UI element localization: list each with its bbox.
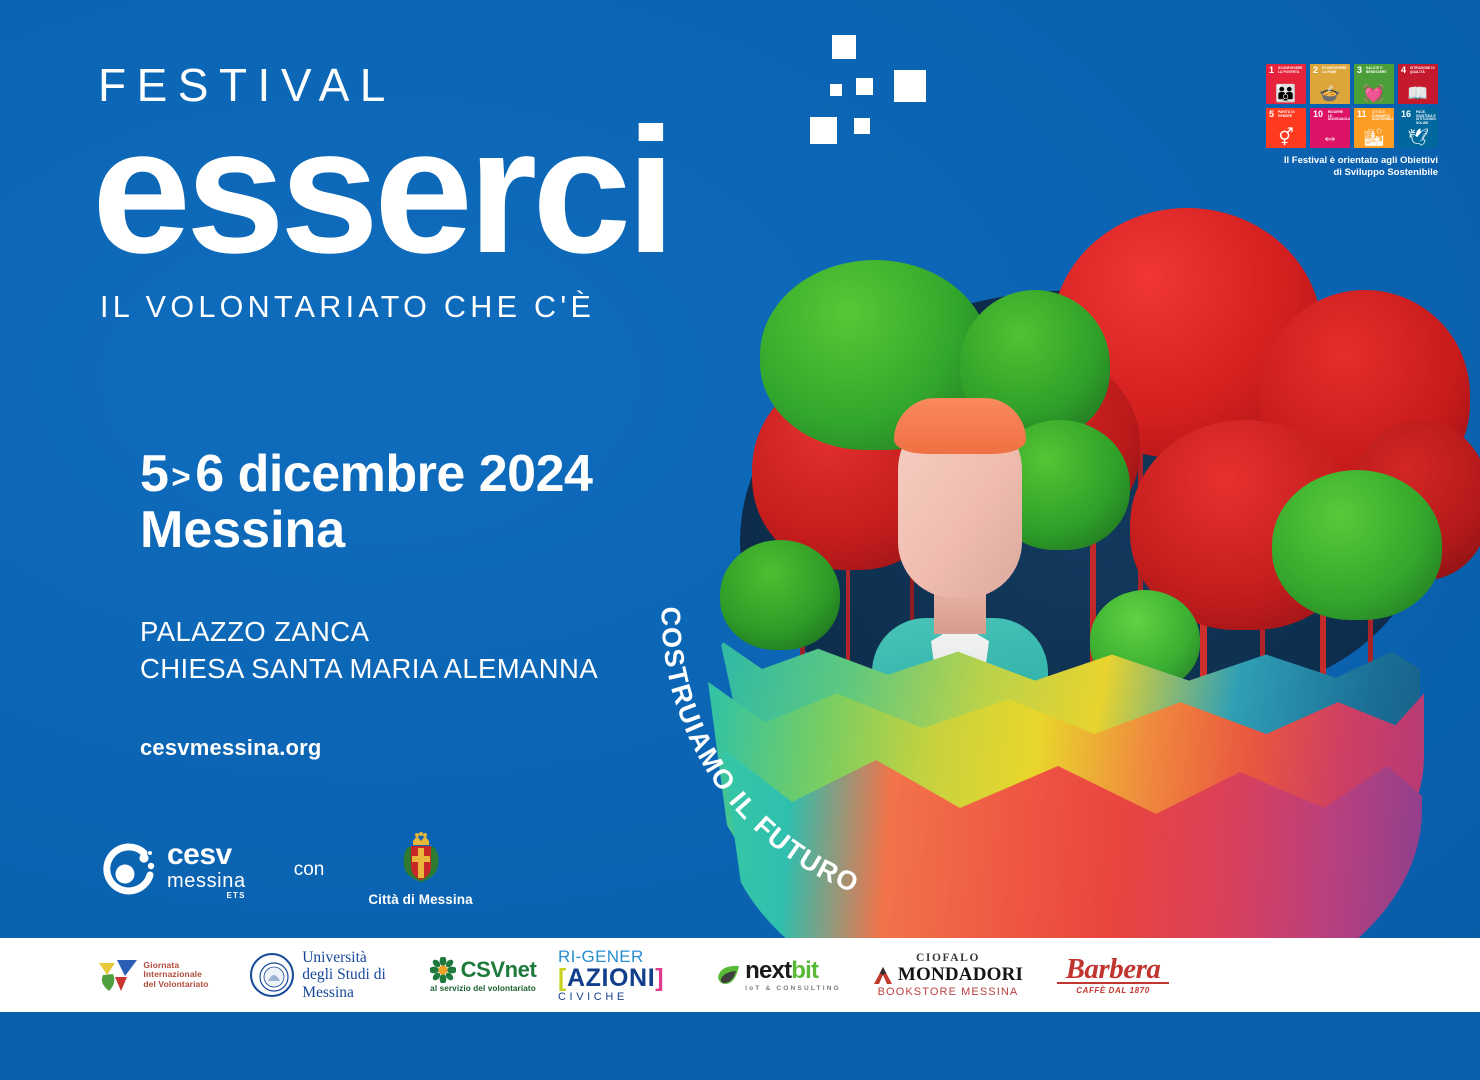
sdg-number: 16 [1401, 110, 1411, 119]
unime-wordmark: Università degli Studi di Messina [302, 949, 386, 1002]
giv-wordmark: Giornata Internazionale del Volontariato [143, 961, 208, 990]
date-rest: 6 dicembre 2024 [195, 445, 592, 503]
date-start: 5 [140, 445, 168, 503]
sdg-panel: 1 SCONFIGGERE LA POVERTÀ 👪 2 SCONFIGGERE… [1266, 64, 1438, 179]
cesv-messina-logo: cesv messina ETS [100, 840, 246, 900]
barbera-name: Barbera [1066, 955, 1161, 984]
sponsor-nextbit[interactable]: nextbit IoT & CONSULTING [698, 938, 858, 1012]
pixel-square [810, 117, 837, 144]
mondadori-main-row: MONDADORI [873, 964, 1023, 986]
mondadori-name: MONDADORI [898, 964, 1023, 986]
event-info-block: 5>6 dicembre 2024 Messina PALAZZO ZANCA … [140, 446, 760, 761]
barbera-underline [1057, 982, 1169, 984]
sdg-gender-icon: ⚥ [1266, 129, 1306, 146]
venue-line-1: PALAZZO ZANCA [140, 614, 760, 651]
sdg-label: SCONFIGGERE LA POVERTÀ [1278, 67, 1304, 74]
sdg-dove-gavel-icon: 🕊 [1398, 129, 1438, 146]
giv-logo-icon [97, 957, 139, 993]
sdg-tile-16[interactable]: 16 PACE, GIUSTIZIA E ISTITUZIONI SOLIDE … [1398, 108, 1438, 148]
organizer-logo-row: cesv messina ETS con Città di Messina [100, 832, 473, 907]
sdg-label: CITTÀ E COMUNITÀ SOSTENIBILI [1372, 111, 1392, 122]
unime-line-1: Università [302, 949, 386, 967]
sdg-tile-2[interactable]: 2 SCONFIGGERE LA FAME 🍲 [1310, 64, 1350, 104]
sponsor-rigenerazioni-civiche[interactable]: RI-GENER [AZIONI] CIVICHE [558, 938, 698, 1012]
figure-hair [894, 398, 1026, 454]
mondadori-subtitle: BOOKSTORE MESSINA [878, 986, 1019, 998]
sdg-number: 4 [1401, 66, 1406, 75]
sponsor-bar: Giornata Internazionale del Volontariato… [0, 938, 1480, 1012]
sdg-label: RIDURRE LE DISUGUAGLIANZE [1328, 111, 1348, 122]
sdg-label: SCONFIGGERE LA FAME [1322, 67, 1348, 74]
sponsor-mondadori-ciofalo[interactable]: CIOFALO MONDADORI BOOKSTORE MESSINA [858, 938, 1038, 1012]
sdg-grid: 1 SCONFIGGERE LA POVERTÀ 👪 2 SCONFIGGERE… [1266, 64, 1438, 148]
sponsor-giornata-internazionale[interactable]: Giornata Internazionale del Volontariato [78, 938, 228, 1012]
sdg-book-icon: 📖 [1398, 85, 1438, 102]
comune-messina-logo: Città di Messina [368, 832, 472, 907]
connector-word: con [294, 859, 325, 881]
pixel-square [894, 70, 926, 102]
sponsor-barbera-caffe[interactable]: Barbera CAFFÈ DAL 1870 [1038, 938, 1188, 1012]
sdg-label: ISTRUZIONE DI QUALITÀ [1410, 67, 1436, 74]
sdg-caption-line-2: di Sviluppo Sostenibile [1266, 167, 1438, 179]
date-arrow: > [168, 458, 195, 495]
sdg-tile-3[interactable]: 3 SALUTE E BENESSERE 💓 [1354, 64, 1394, 104]
rigener-line-2: [AZIONI] [558, 967, 664, 991]
sdg-city-icon: 🏙 [1354, 129, 1394, 146]
cesv-suffix: ETS [167, 892, 246, 900]
sdg-number: 11 [1357, 110, 1367, 119]
sdg-label: PACE, GIUSTIZIA E ISTITUZIONI SOLIDE [1416, 111, 1436, 125]
sdg-bowl-icon: 🍲 [1310, 85, 1350, 102]
barbera-tagline: CAFFÈ DAL 1870 [1076, 986, 1150, 995]
sdg-heartbeat-icon: 💓 [1354, 85, 1394, 102]
poster-canvas: COSTRUIAMO IL FUTURO FESTIVAL esserci IL… [0, 0, 1480, 1080]
mondadori-a-icon [873, 967, 893, 984]
sdg-label: PARITÀ DI GENERE [1278, 111, 1304, 118]
headline-block: FESTIVAL esserci IL VOLONTARIATO CHE C'È [98, 62, 918, 323]
csvnet-tagline: al servizio del volontariato [430, 984, 536, 993]
rigener-line-3: CIVICHE [558, 991, 628, 1003]
cesv-city: messina [167, 871, 246, 891]
bottom-blue-strip [0, 1012, 1480, 1080]
cesv-name: cesv [167, 840, 246, 870]
unime-line-3: Messina [302, 984, 386, 1002]
pixel-square [856, 78, 873, 95]
nextbit-name-row: nextbit [745, 958, 841, 985]
nextbit-leaf-icon [715, 963, 741, 987]
cesv-swirl-icon [100, 841, 158, 899]
sdg-number: 3 [1357, 66, 1362, 75]
cesv-wordmark: cesv messina ETS [167, 840, 246, 900]
website-url[interactable]: cesvmessina.org [140, 735, 760, 761]
sdg-number: 2 [1313, 66, 1318, 75]
tagline: IL VOLONTARIATO CHE C'È [100, 292, 918, 323]
sdg-tile-5[interactable]: 5 PARITÀ DI GENERE ⚥ [1266, 108, 1306, 148]
sdg-tile-10[interactable]: 10 RIDURRE LE DISUGUAGLIANZE ⇔ [1310, 108, 1350, 148]
pixel-square [830, 84, 842, 96]
sdg-number: 5 [1269, 110, 1274, 119]
sdg-label: SALUTE E BENESSERE [1366, 67, 1392, 74]
event-dates: 5>6 dicembre 2024 [140, 446, 760, 502]
nextbit-wordmark: nextbit IoT & CONSULTING [745, 958, 841, 992]
tree-canopy-green [1272, 470, 1442, 620]
sdg-people-icon: 👪 [1266, 85, 1306, 102]
csvnet-top-row: CSVnet [430, 957, 537, 983]
sponsor-universita-messina[interactable]: Università degli Studi di Messina [228, 938, 408, 1012]
sdg-tile-4[interactable]: 4 ISTRUZIONE DI QUALITÀ 📖 [1398, 64, 1438, 104]
sdg-tile-11[interactable]: 11 CITTÀ E COMUNITÀ SOSTENIBILI 🏙 [1354, 108, 1394, 148]
nextbit-tagline: IoT & CONSULTING [745, 985, 841, 992]
comune-label: Città di Messina [368, 892, 472, 907]
unime-seal-icon [250, 953, 294, 997]
sdg-caption: Il Festival è orientato agli Obiettivi d… [1266, 155, 1438, 179]
event-city: Messina [140, 502, 760, 558]
csvnet-name: CSVnet [461, 957, 537, 983]
unime-line-2: degli Studi di [302, 966, 386, 984]
ciofalo-name: CIOFALO [916, 952, 980, 964]
sdg-equals-arrows-icon: ⇔ [1310, 129, 1350, 146]
venue-line-2: CHIESA SANTA MARIA ALEMANNA [140, 651, 760, 688]
sdg-caption-line-1: Il Festival è orientato agli Obiettivi [1266, 155, 1438, 167]
city-crest-icon [395, 832, 447, 888]
brand-wordmark: esserci [92, 104, 918, 278]
giv-line-3: del Volontariato [143, 980, 208, 990]
event-venues: PALAZZO ZANCA CHIESA SANTA MARIA ALEMANN… [140, 614, 760, 687]
sdg-number: 1 [1269, 66, 1274, 75]
sponsor-csvnet[interactable]: CSVnet al servizio del volontariato [408, 938, 558, 1012]
pixel-square [832, 35, 856, 59]
csvnet-flower-icon [430, 957, 456, 983]
sdg-tile-1[interactable]: 1 SCONFIGGERE LA POVERTÀ 👪 [1266, 64, 1306, 104]
sdg-number: 10 [1313, 110, 1323, 119]
pixel-square [854, 118, 870, 134]
